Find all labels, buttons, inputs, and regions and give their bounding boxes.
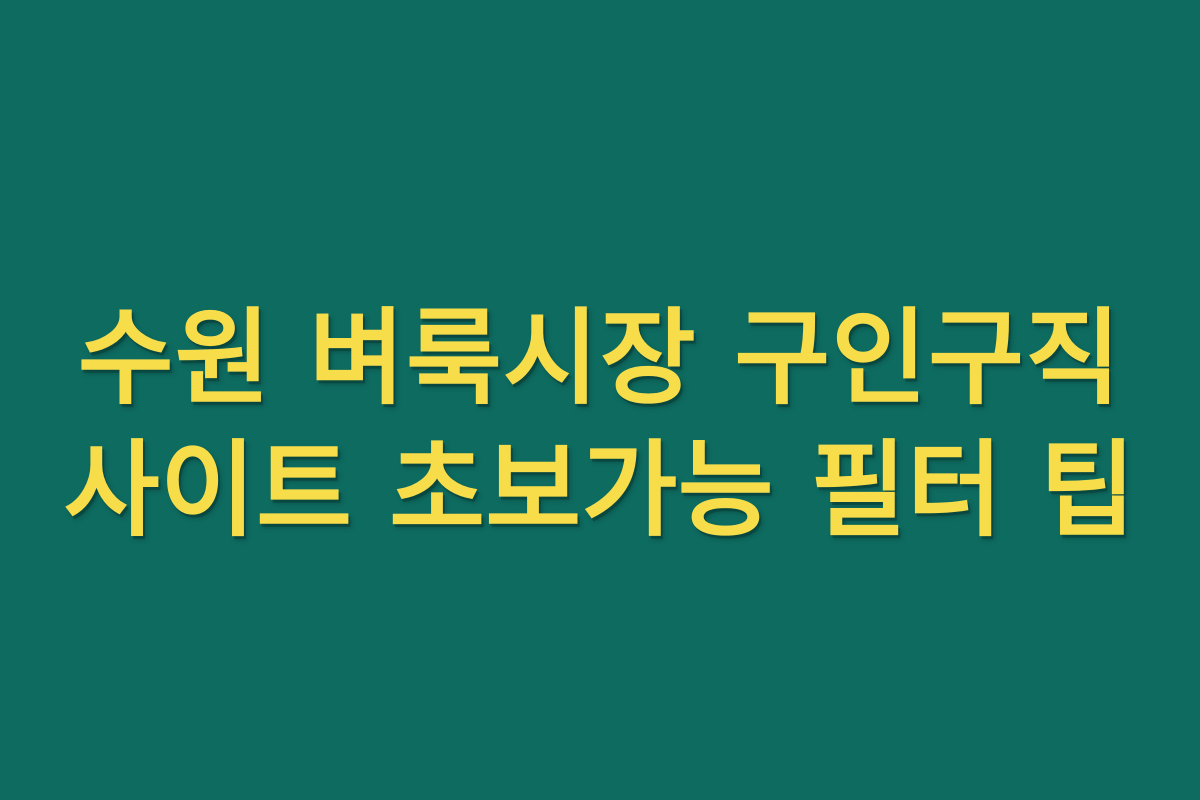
banner-canvas: 수원 벼룩시장 구인구직 사이트 초보가능 필터 팁 (0, 0, 1200, 800)
banner-title-line-2: 사이트 초보가능 필터 팁 (0, 424, 1200, 556)
banner-title-block: 수원 벼룩시장 구인구직 사이트 초보가능 필터 팁 (0, 292, 1200, 556)
banner-title-line-1: 수원 벼룩시장 구인구직 (0, 292, 1200, 424)
